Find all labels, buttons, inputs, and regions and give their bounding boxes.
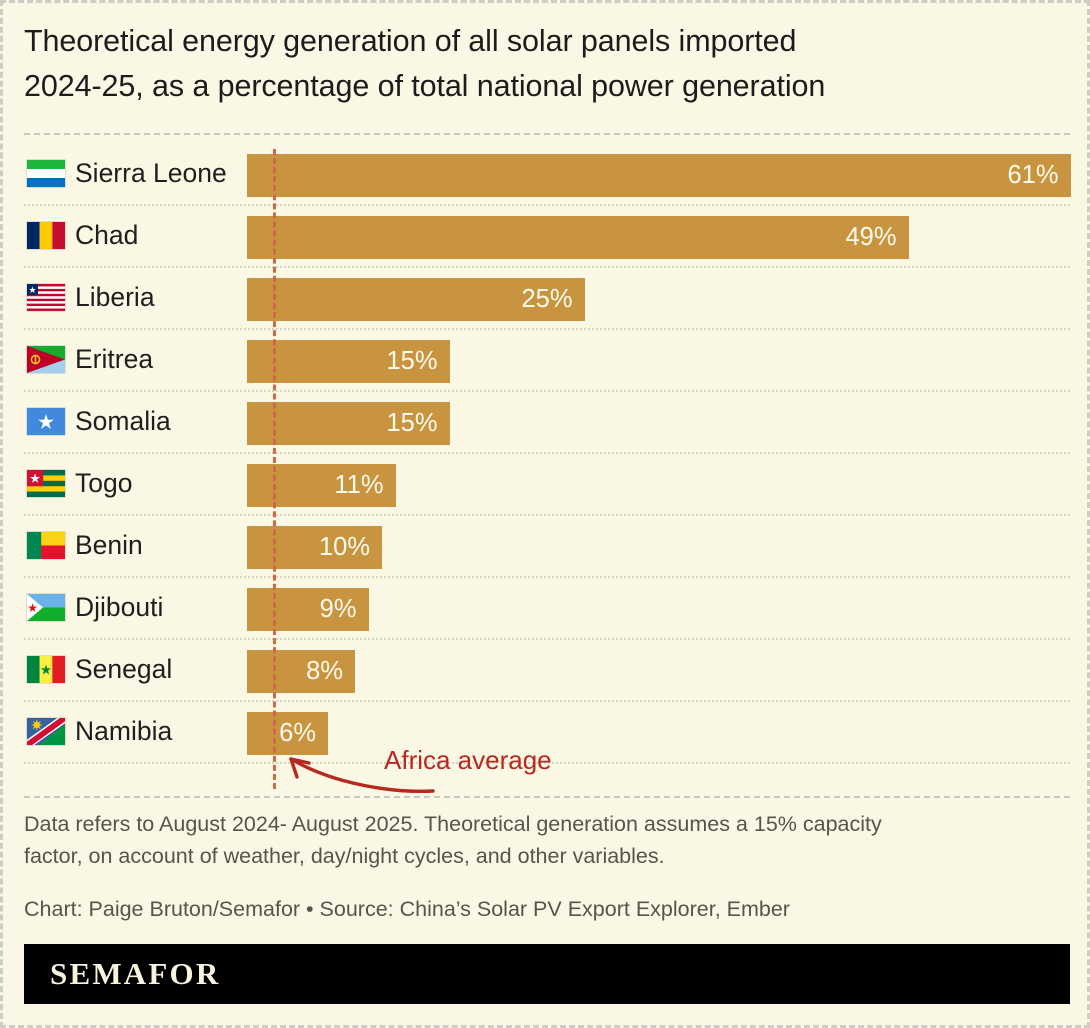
country-label: Somalia [75,400,171,443]
country-label: Benin [75,524,143,567]
bar-value-label: 15% [386,340,437,383]
flag-icon-namibia [27,718,65,745]
semafor-wordmark: SEMAFOR [50,944,220,1004]
bar-value-label: 49% [845,216,896,259]
title-separator [24,133,1070,135]
country-label: Namibia [75,710,172,753]
chart-row: Somalia15% [3,391,1090,453]
chart-source: Chart: Paige Bruton/Semafor • Source: Ch… [24,894,1064,924]
country-label: Sierra Leone [75,152,227,195]
chart-canvas: Theoretical energy generation of all sol… [0,0,1090,1028]
country-label: Senegal [75,648,172,691]
chart-row: Eritrea15% [3,329,1090,391]
flag-icon-chad [27,222,65,249]
bar-value-label: 61% [1007,154,1058,197]
chart-footnote: Data refers to August 2024- August 2025.… [24,809,1064,873]
bar-sierra-leone [247,154,1071,197]
africa-average-label: Africa average [384,745,552,776]
country-label: Djibouti [75,586,163,629]
africa-average-line [273,149,276,789]
flag-icon-senegal [27,656,65,683]
flag-icon-djibouti [27,594,65,621]
footnote-line-1: Data refers to August 2024- August 2025.… [24,809,1064,841]
flag-icon-somalia [27,408,65,435]
chart-plot-area: Sierra Leone61%Chad49%Liberia25%Eritrea1… [3,143,1090,793]
chart-row: Sierra Leone61% [3,143,1090,205]
footer-separator [24,796,1070,798]
chart-row: Benin10% [3,515,1090,577]
flag-icon-benin [27,532,65,559]
country-label: Liberia [75,276,155,319]
chart-row: Djibouti9% [3,577,1090,639]
chart-row: Liberia25% [3,267,1090,329]
chart-row: Chad49% [3,205,1090,267]
country-label: Eritrea [75,338,153,381]
semafor-logo-bar: SEMAFOR [24,944,1070,1004]
footnote-line-2: factor, on account of weather, day/night… [24,841,1064,873]
bar-value-label: 10% [319,526,370,569]
bar-value-label: 9% [320,588,357,631]
flag-icon-sierra-leone [27,160,65,187]
country-label: Togo [75,462,132,505]
bar-value-label: 8% [306,650,343,693]
flag-icon-eritrea [27,346,65,373]
chart-row: Togo11% [3,453,1090,515]
bar-value-label: 25% [521,278,572,321]
country-label: Chad [75,214,138,257]
flag-icon-liberia [27,284,65,311]
bar-value-label: 15% [386,402,437,445]
flag-icon-togo [27,470,65,497]
chart-title-line-1: Theoretical energy generation of all sol… [24,19,1064,64]
chart-title: Theoretical energy generation of all sol… [24,19,1064,110]
chart-title-line-2: 2024-25, as a percentage of total nation… [24,64,1064,109]
chart-row: Senegal8% [3,639,1090,701]
bar-chad [247,216,909,259]
bar-value-label: 11% [334,464,383,507]
